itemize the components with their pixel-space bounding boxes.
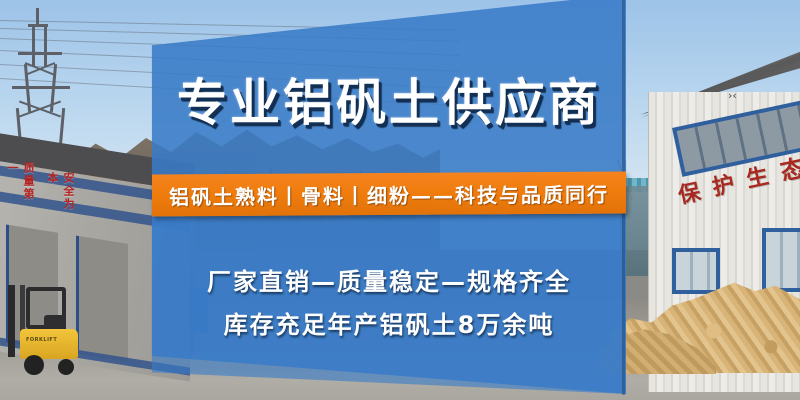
- headline: 专业铝矾土供应商: [152, 78, 626, 128]
- subline-1: 厂家直销—质量稳定—规格齐全: [152, 262, 626, 297]
- forklift: FORKLIFT: [6, 285, 84, 377]
- banner-image: 质量第一 安全为本 FORKLIFT 保 护 生 态 ›‹: [0, 0, 800, 400]
- right-building-window-1: [672, 248, 720, 294]
- forklift-badge: FORKLIFT: [26, 337, 57, 343]
- bird-icon: ›‹: [728, 90, 737, 101]
- subline-2: 库存充足年产铝矾土8万余吨: [152, 305, 626, 340]
- tagline-banner: 铝矾土熟料丨骨料丨细粉——科技与品质同行: [152, 172, 626, 217]
- right-building-window-2: [762, 228, 800, 292]
- tagline-text: 铝矾土熟料丨骨料丨细粉——科技与品质同行: [169, 178, 609, 210]
- left-wall-sign-1: 质量第一: [4, 162, 36, 202]
- left-wall-sign-2: 安全为本: [44, 172, 76, 212]
- blue-overlay-panel-lower: [150, 214, 626, 394]
